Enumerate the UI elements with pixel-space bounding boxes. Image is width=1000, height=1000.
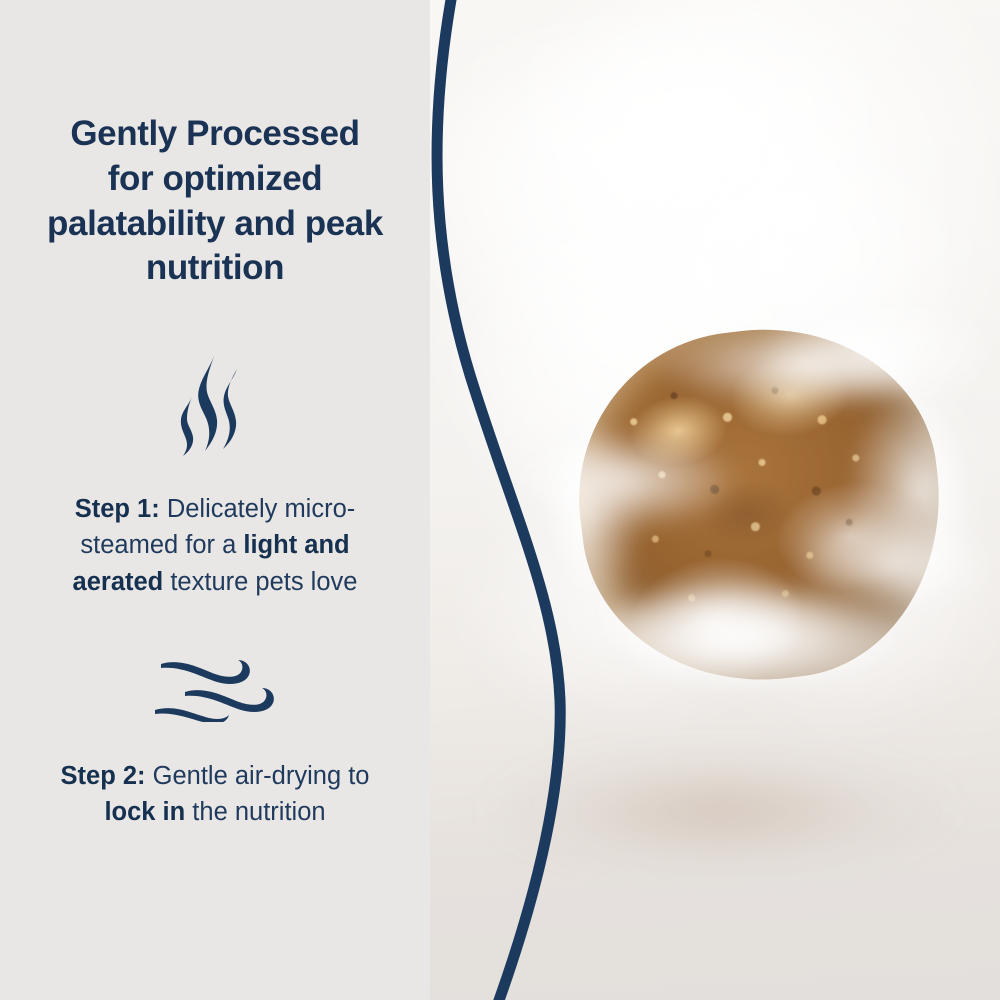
text-column: Gently Processed for optimized palatabil… [0, 0, 430, 1000]
step-2-text-before: Gentle air-drying to [146, 762, 370, 790]
step-1-text: Step 1: Delicately micro-steamed for a l… [50, 491, 380, 600]
infographic-stage: Gently Processed for optimized palatabil… [0, 0, 1000, 1000]
wind-waves-icon [155, 656, 275, 722]
step-2-text: Step 2: Gentle air-drying to lock in the… [50, 758, 380, 830]
steam-icon-glyph [180, 353, 250, 457]
step-2-text-after: the nutrition [185, 798, 325, 826]
product-photo-panel [430, 0, 1000, 1000]
wind-waves-icon-glyph [155, 656, 275, 722]
steam-cloud-icon [430, 20, 829, 360]
step-2-emphasis: lock in [104, 798, 185, 826]
product-shadow [476, 745, 966, 875]
steam-cloud-icon [510, 0, 886, 270]
page-title: Gently Processed for optimized palatabil… [45, 112, 385, 291]
kibble-texture [560, 309, 960, 700]
step-2-label: Step 2: [61, 762, 146, 790]
step-1-text-after: texture pets love [163, 568, 357, 596]
steam-icon [180, 353, 250, 457]
kibble-nugget-image [580, 330, 940, 680]
step-1-label: Step 1: [75, 495, 160, 523]
